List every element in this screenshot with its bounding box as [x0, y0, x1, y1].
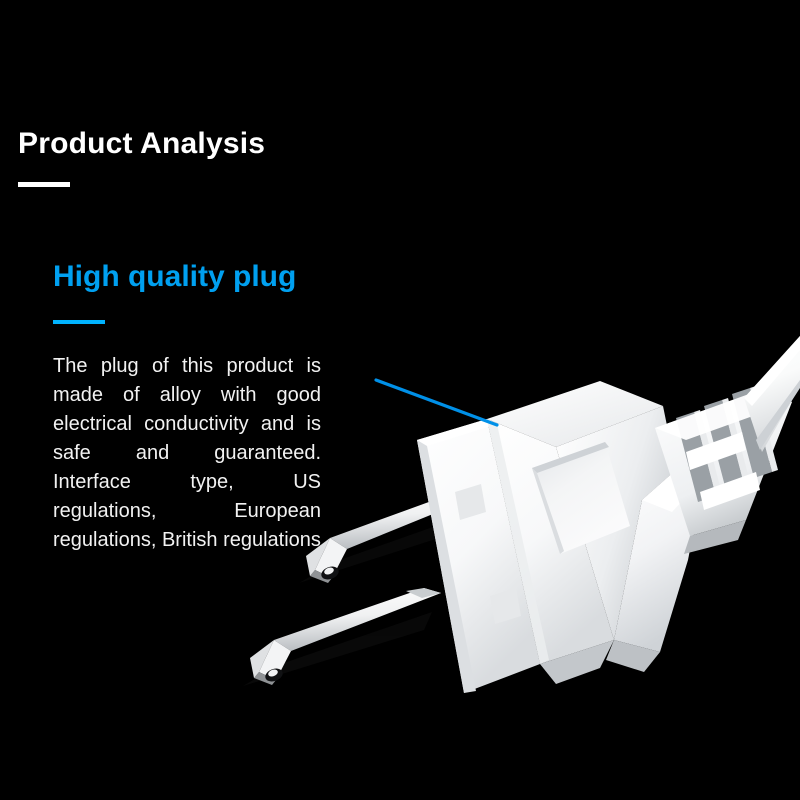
title-underline-rule [18, 182, 70, 187]
page-title: Product Analysis [18, 126, 265, 162]
prong-lower [250, 588, 441, 685]
prong-upper [306, 487, 487, 583]
power-cable [744, 336, 800, 452]
plug-front-flange [417, 419, 540, 693]
section-body-text: The plug of this product is made of allo… [53, 352, 321, 555]
product-analysis-slide: Product Analysis High quality plug The p… [0, 0, 800, 800]
section-heading: High quality plug [53, 258, 296, 296]
plug-body [487, 381, 676, 684]
callout-leader-line [376, 380, 497, 425]
plug-neck [606, 470, 704, 672]
section-heading-underline-rule [53, 320, 105, 324]
strain-relief-ridges [655, 386, 792, 554]
